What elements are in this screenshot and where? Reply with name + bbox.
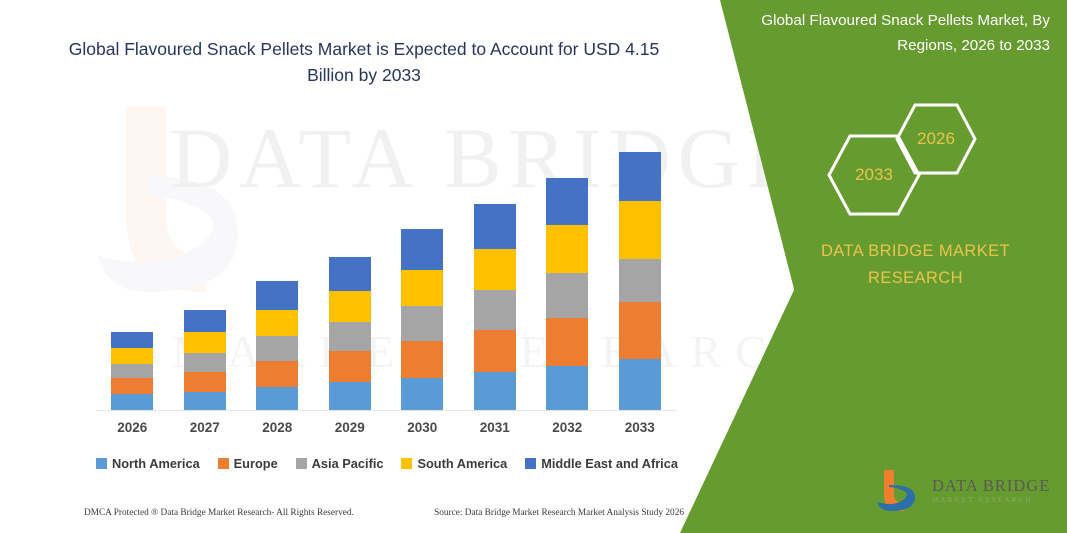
- legend-item-middle-east-and-africa[interactable]: Middle East and Africa: [525, 456, 678, 471]
- legend-item-north-america[interactable]: North America: [96, 456, 200, 471]
- footer-source: Source: Data Bridge Market Research Mark…: [434, 508, 684, 518]
- bar-2030[interactable]: [401, 229, 443, 410]
- bar-segment-middle-east-and-africa[interactable]: [184, 310, 226, 332]
- legend-swatch-icon: [218, 458, 229, 469]
- bar-segment-north-america[interactable]: [184, 392, 226, 410]
- chart-title: Global Flavoured Snack Pellets Market is…: [64, 36, 664, 88]
- logo-subtitle: MARKET RESEARCH: [932, 495, 1050, 505]
- bar-segment-south-america[interactable]: [329, 291, 371, 322]
- logo-name: DATA BRIDGE: [932, 477, 1050, 495]
- bar-segment-north-america[interactable]: [546, 366, 588, 410]
- legend-item-asia-pacific[interactable]: Asia Pacific: [296, 456, 384, 471]
- logo-text: DATA BRIDGE MARKET RESEARCH: [932, 477, 1050, 505]
- x-axis-label-2030: 2030: [394, 420, 450, 435]
- legend-swatch-icon: [96, 458, 107, 469]
- hexagon-2026-label: 2026: [917, 129, 955, 149]
- bar-segment-middle-east-and-africa[interactable]: [329, 257, 371, 291]
- bar-segment-south-america[interactable]: [256, 310, 298, 336]
- brand-name-line-2: RESEARCH: [808, 265, 1023, 292]
- bar-segment-europe[interactable]: [184, 372, 226, 392]
- bar-segment-middle-east-and-africa[interactable]: [401, 229, 443, 270]
- bar-2028[interactable]: [256, 281, 298, 410]
- bar-segment-asia-pacific[interactable]: [619, 259, 661, 302]
- x-axis-labels: 20262027202820292030203120322033: [96, 420, 676, 435]
- legend-swatch-icon: [296, 458, 307, 469]
- legend-label: Asia Pacific: [312, 456, 384, 471]
- bar-segment-middle-east-and-africa[interactable]: [619, 152, 661, 201]
- bar-2027[interactable]: [184, 310, 226, 410]
- bar-segment-europe[interactable]: [329, 351, 371, 382]
- bar-segment-south-america[interactable]: [401, 270, 443, 306]
- bar-segment-europe[interactable]: [546, 318, 588, 366]
- bar-2033[interactable]: [619, 152, 661, 410]
- logo-mark-icon: [875, 468, 923, 514]
- bar-segment-europe[interactable]: [619, 302, 661, 359]
- footer: DMCA Protected ® Data Bridge Market Rese…: [84, 508, 684, 518]
- bar-segment-north-america[interactable]: [111, 394, 153, 410]
- bar-segment-north-america[interactable]: [474, 372, 516, 410]
- brand-name-line-1: DATA BRIDGE MARKET: [808, 238, 1023, 265]
- chart-plot-area: [96, 140, 676, 410]
- infographic-root: DATA BRIDGE MARKET RESEARCH Global Flavo…: [0, 0, 1067, 533]
- bar-segment-south-america[interactable]: [184, 332, 226, 353]
- bar-segment-north-america[interactable]: [256, 387, 298, 410]
- hexagon-2033-label: 2033: [855, 165, 893, 185]
- brand-name: DATA BRIDGE MARKET RESEARCH: [808, 238, 1023, 292]
- bar-2029[interactable]: [329, 257, 371, 410]
- bar-segment-asia-pacific[interactable]: [256, 336, 298, 361]
- bar-segment-europe[interactable]: [256, 361, 298, 387]
- bar-segment-asia-pacific[interactable]: [184, 353, 226, 372]
- panel-title: Global Flavoured Snack Pellets Market, B…: [730, 8, 1050, 58]
- bar-segment-europe[interactable]: [474, 330, 516, 372]
- hexagon-2026: 2026: [894, 102, 978, 176]
- bar-segment-middle-east-and-africa[interactable]: [474, 204, 516, 249]
- bar-segment-asia-pacific[interactable]: [329, 322, 371, 351]
- bar-segment-asia-pacific[interactable]: [474, 290, 516, 330]
- bar-segment-south-america[interactable]: [546, 225, 588, 273]
- bar-segment-south-america[interactable]: [474, 249, 516, 290]
- bar-segment-south-america[interactable]: [111, 348, 153, 364]
- x-axis-label-2031: 2031: [467, 420, 523, 435]
- legend-label: Europe: [234, 456, 278, 471]
- bar-segment-north-america[interactable]: [619, 359, 661, 410]
- legend-item-europe[interactable]: Europe: [218, 456, 278, 471]
- bar-segment-south-america[interactable]: [619, 201, 661, 259]
- chart-legend: North AmericaEuropeAsia PacificSouth Ame…: [96, 456, 678, 471]
- bar-2032[interactable]: [546, 178, 588, 410]
- bar-segment-middle-east-and-africa[interactable]: [111, 332, 153, 348]
- x-axis-label-2028: 2028: [249, 420, 305, 435]
- bar-segment-middle-east-and-africa[interactable]: [546, 178, 588, 225]
- legend-label: North America: [112, 456, 200, 471]
- hexagon-group: 2033 2026: [808, 88, 1018, 213]
- bar-segment-asia-pacific[interactable]: [546, 273, 588, 318]
- legend-swatch-icon: [525, 458, 536, 469]
- x-axis-label-2029: 2029: [322, 420, 378, 435]
- company-logo: DATA BRIDGE MARKET RESEARCH: [875, 465, 1055, 517]
- legend-item-south-america[interactable]: South America: [401, 456, 507, 471]
- bar-segment-north-america[interactable]: [329, 382, 371, 410]
- footer-copyright: DMCA Protected ® Data Bridge Market Rese…: [84, 508, 354, 518]
- x-axis-line: [96, 410, 676, 411]
- bar-segment-north-america[interactable]: [401, 378, 443, 410]
- legend-label: South America: [417, 456, 507, 471]
- x-axis-label-2027: 2027: [177, 420, 233, 435]
- bar-group: [96, 140, 676, 410]
- legend-label: Middle East and Africa: [541, 456, 678, 471]
- x-axis-label-2026: 2026: [104, 420, 160, 435]
- x-axis-label-2032: 2032: [539, 420, 595, 435]
- bar-segment-asia-pacific[interactable]: [111, 364, 153, 378]
- bar-2031[interactable]: [474, 204, 516, 410]
- x-axis-label-2033: 2033: [612, 420, 668, 435]
- bar-segment-middle-east-and-africa[interactable]: [256, 281, 298, 310]
- bar-segment-asia-pacific[interactable]: [401, 306, 443, 341]
- bar-segment-europe[interactable]: [111, 378, 153, 394]
- bar-segment-europe[interactable]: [401, 341, 443, 378]
- bar-2026[interactable]: [111, 332, 153, 410]
- legend-swatch-icon: [401, 458, 412, 469]
